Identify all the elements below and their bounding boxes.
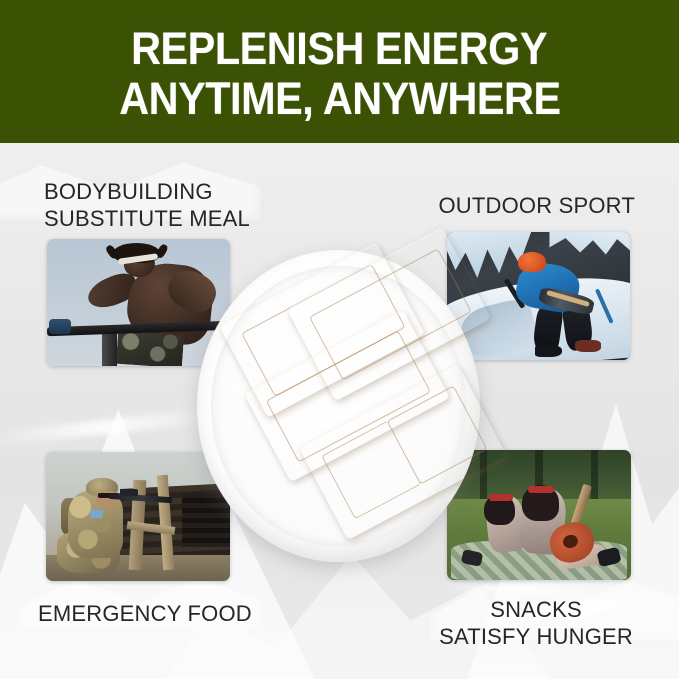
headline-line-1: REPLENISH ENERGY — [132, 24, 548, 74]
caption-outdoor-sport: OUTDOOR SPORT — [438, 192, 635, 219]
header-banner: REPLENISH ENERGY ANYTIME, ANYWHERE — [0, 0, 679, 143]
boot-right — [575, 340, 601, 353]
camo-shorts — [115, 331, 183, 366]
boot-left — [535, 345, 562, 358]
caption-bodybuilding: BODYBUILDING SUBSTITUTE MEAL — [44, 178, 250, 232]
bar-post — [102, 333, 117, 366]
headline-line-2: ANYTIME, ANYWHERE — [119, 74, 560, 124]
orange-helmet — [518, 252, 545, 271]
caption-emergency-food: EMERGENCY FOOD — [38, 600, 252, 627]
caption-snacks: SNACKS SATISFY HUNGER — [439, 596, 633, 650]
headband-right — [528, 486, 554, 493]
bar-end-cap — [49, 319, 71, 334]
tree-trunk-3 — [591, 450, 598, 505]
product-plate — [197, 250, 480, 562]
shoulder-patch — [90, 510, 103, 518]
rifle-scope — [120, 489, 138, 495]
product-infographic: REPLENISH ENERGY ANYTIME, ANYWHERE BODYB… — [0, 0, 679, 679]
headband-left — [489, 494, 513, 501]
